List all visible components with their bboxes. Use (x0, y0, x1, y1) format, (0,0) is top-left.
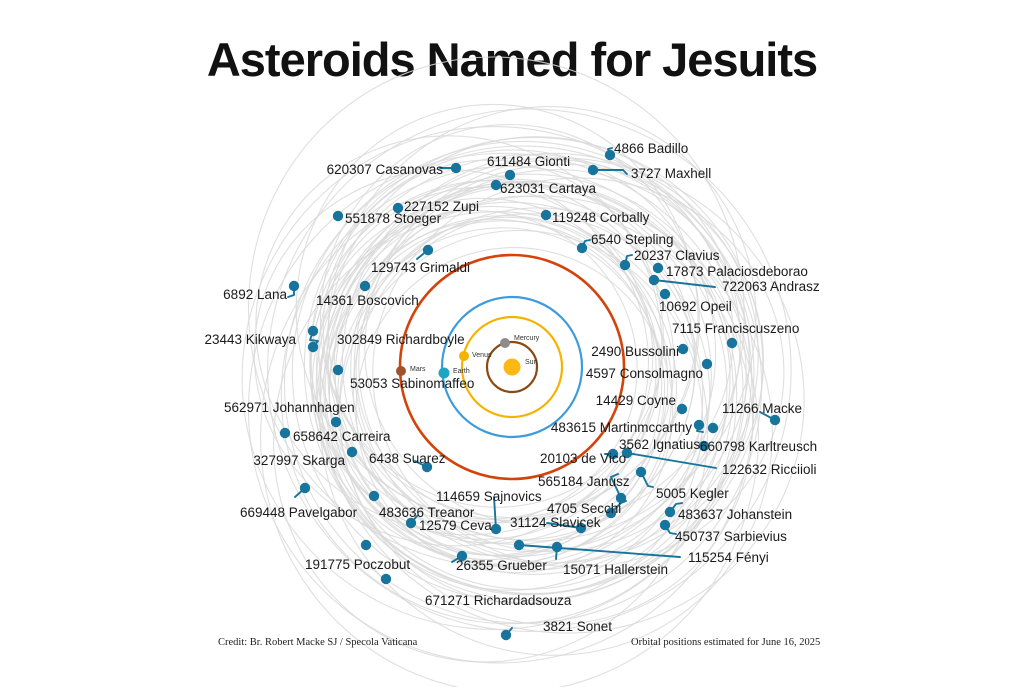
asteroid-dot[interactable] (552, 542, 562, 552)
planet-body-mercury (500, 338, 510, 348)
asteroid-label[interactable]: 6540 Stepling (591, 233, 674, 247)
planet-label-venus: Venus (472, 352, 491, 359)
asteroid-dot[interactable] (361, 540, 371, 550)
asteroid-dot[interactable] (577, 243, 587, 253)
asteroid-dot[interactable] (665, 507, 675, 517)
asteroid-dot[interactable] (369, 491, 379, 501)
asteroid-label[interactable]: 20237 Clavius (634, 249, 720, 263)
asteroid-label[interactable]: 483637 Johanstein (678, 508, 792, 522)
asteroid-dot[interactable] (660, 520, 670, 530)
planet-body-mars (396, 366, 406, 376)
asteroid-dot[interactable] (289, 281, 299, 291)
asteroid-dot[interactable] (331, 417, 341, 427)
asteroid-label[interactable]: 114659 Sajnovics (436, 490, 542, 504)
asteroid-label[interactable]: 302849 Richardboyle (337, 333, 465, 347)
asteroid-dot[interactable] (636, 467, 646, 477)
asteroid-label[interactable]: 2490 Bussolini (591, 345, 679, 359)
asteroid-dot[interactable] (678, 344, 688, 354)
asteroid-label[interactable]: 10692 Opeil (659, 300, 732, 314)
asteroid-label[interactable]: 23443 Kikwaya (204, 333, 296, 347)
asteroid-dot[interactable] (381, 574, 391, 584)
asteroid-dot[interactable] (514, 540, 524, 550)
asteroid-label[interactable]: 6438 Suarez (369, 452, 446, 466)
asteroid-label[interactable]: 450737 Sarbievius (675, 530, 787, 544)
orbital-diagram-svg (0, 0, 1024, 687)
asteroid-label[interactable]: 7115 Franciscuszeno (672, 322, 799, 336)
asteroid-label[interactable]: 12579 Ceva (419, 519, 492, 533)
planet-body-sun (504, 359, 521, 376)
asteroid-dot[interactable] (501, 630, 511, 640)
asteroid-label[interactable]: 53053 Sabinomaffeo (350, 377, 474, 391)
planet-body-venus (459, 351, 469, 361)
asteroid-dot[interactable] (347, 447, 357, 457)
asteroid-dot[interactable] (333, 211, 343, 221)
asteroid-label[interactable]: 3562 Ignatius (619, 438, 700, 452)
asteroid-label[interactable]: 3727 Maxhell (631, 167, 711, 181)
asteroid-dot[interactable] (333, 365, 343, 375)
asteroid-label[interactable]: 669448 Pavelgabor (240, 506, 357, 520)
asteroid-dot[interactable] (677, 404, 687, 414)
asteroid-dot[interactable] (308, 342, 318, 352)
asteroid-dot[interactable] (702, 359, 712, 369)
planet-label-earth: Earth (453, 368, 470, 375)
asteroid-label[interactable]: 4597 Consolmagno (586, 367, 703, 381)
asteroid-label[interactable]: 191775 Poczobut (305, 558, 410, 572)
planet-label-mercury: Mercury (514, 335, 539, 342)
credit-left: Credit: Br. Robert Macke SJ / Specola Va… (218, 637, 417, 648)
asteroid-label[interactable]: 483615 Martinmccarthy (551, 421, 692, 435)
asteroid-label[interactable]: 671271 Richardadsouza (425, 594, 571, 608)
asteroid-label[interactable]: 31124 Slavicek (510, 516, 601, 530)
asteroid-label[interactable]: 119248 Corbally (552, 211, 649, 225)
asteroid-label[interactable]: 129743 Grimaldi (371, 261, 470, 275)
asteroid-label[interactable]: 620307 Casanovas (327, 163, 443, 177)
asteroid-label[interactable]: 6892 Lana (223, 288, 287, 302)
asteroid-label[interactable]: 26355 Grueber (456, 559, 547, 573)
asteroid-dot[interactable] (451, 163, 461, 173)
asteroid-dot[interactable] (727, 338, 737, 348)
asteroid-dot[interactable] (770, 415, 780, 425)
asteroid-label[interactable]: 611484 Gionti (487, 155, 570, 169)
asteroid-label[interactable]: 4705 Secchi (547, 502, 621, 516)
asteroid-dot[interactable] (588, 165, 598, 175)
asteroid-dot[interactable] (300, 483, 310, 493)
asteroid-dot[interactable] (694, 420, 704, 430)
asteroid-label[interactable]: 327997 Skarga (253, 454, 345, 468)
asteroid-label[interactable]: 15071 Hallerstein (563, 563, 668, 577)
asteroid-dot[interactable] (360, 281, 370, 291)
asteroid-label[interactable]: 3821 Sonet (543, 620, 612, 634)
planet-label-mars: Mars (410, 366, 426, 373)
asteroid-dot[interactable] (653, 263, 663, 273)
asteroid-dot[interactable] (505, 170, 515, 180)
asteroid-label[interactable]: 562971 Johannhagen (224, 401, 355, 415)
asteroid-label[interactable]: 565184 Janusz (538, 475, 630, 489)
asteroid-label[interactable]: 20103 de Vico (540, 452, 626, 466)
asteroid-dot[interactable] (280, 428, 290, 438)
asteroid-label[interactable]: 115254 Fényi (688, 551, 769, 565)
asteroid-dot[interactable] (491, 524, 501, 534)
asteroid-dot[interactable] (541, 210, 551, 220)
asteroid-dot[interactable] (708, 423, 718, 433)
asteroid-label[interactable]: 4866 Badillo (614, 142, 688, 156)
asteroid-label[interactable]: 658642 Carreira (293, 430, 391, 444)
asteroid-dot[interactable] (308, 326, 318, 336)
diagram-canvas: Asteroids Named for Jesuits SunMercuryVe… (0, 0, 1024, 687)
asteroid-label[interactable]: 14361 Boscovich (316, 294, 419, 308)
asteroid-label[interactable]: 722063 Andrasz (722, 280, 820, 294)
asteroid-label[interactable]: 14429 Coyne (596, 394, 676, 408)
asteroid-dot[interactable] (620, 260, 630, 270)
asteroid-label[interactable]: 623031 Cartaya (500, 182, 596, 196)
asteroid-label[interactable]: 11266 Macke (722, 402, 802, 416)
asteroid-label[interactable]: 551878 Stoeger (345, 212, 441, 226)
asteroid-label[interactable]: 660798 Karltreusch (700, 440, 817, 454)
asteroid-label[interactable]: 17873 Palaciosdeborao (666, 265, 808, 279)
credit-right: Orbital positions estimated for June 16,… (631, 637, 820, 648)
asteroid-orbit-arc (186, 47, 861, 687)
asteroid-dot[interactable] (423, 245, 433, 255)
asteroid-label[interactable]: 122632 Ricciioli (722, 463, 817, 477)
asteroid-label[interactable]: 5005 Kegler (656, 487, 729, 501)
asteroid-dot[interactable] (649, 275, 659, 285)
planet-label-sun: Sun (525, 359, 537, 366)
asteroid-dot[interactable] (660, 289, 670, 299)
